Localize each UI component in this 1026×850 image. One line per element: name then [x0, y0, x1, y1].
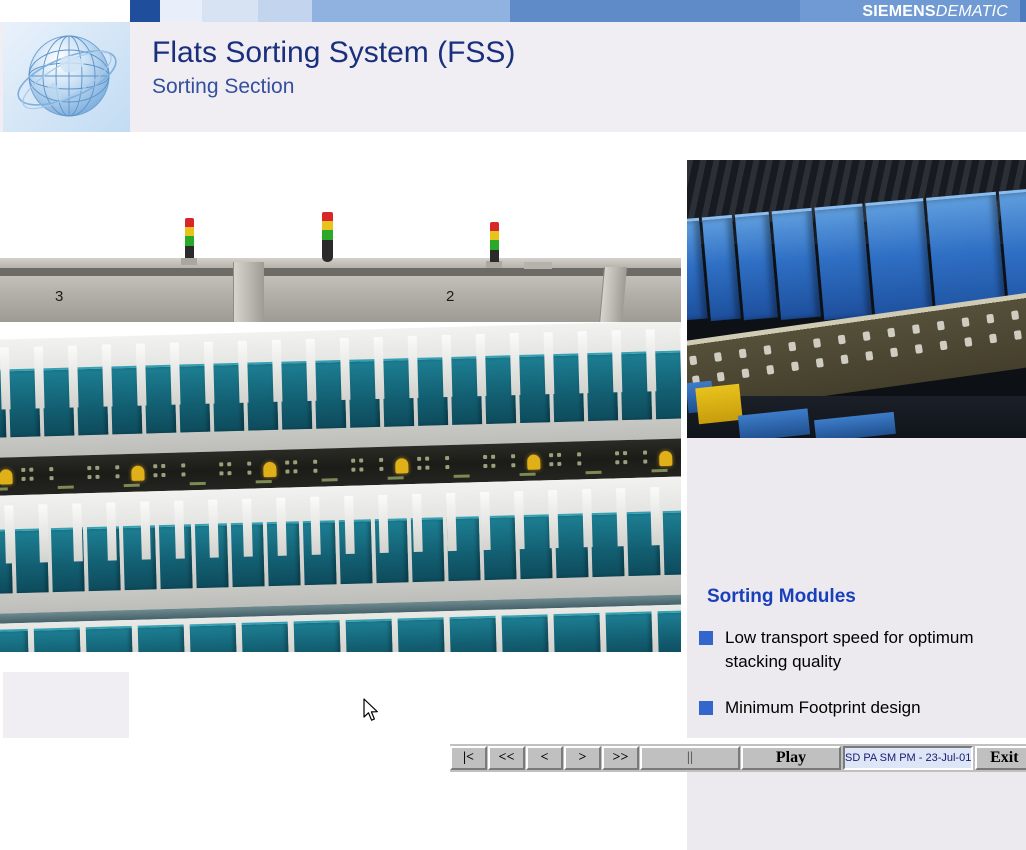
- control-dot: [87, 466, 91, 470]
- tower-yellow-lamp: [322, 221, 333, 230]
- band-segment-light-1: [202, 0, 258, 22]
- signal-tower-icon: [322, 212, 333, 262]
- tray-bin: [339, 519, 373, 584]
- control-dot: [227, 462, 231, 466]
- tower-red-lamp: [322, 212, 333, 221]
- globe-wireframe-svg: [9, 24, 129, 132]
- tower-green-lamp: [322, 230, 333, 240]
- tray-divider: [446, 493, 457, 551]
- page-title: Flats Sorting System (FSS): [152, 36, 515, 70]
- control-dot: [247, 471, 251, 475]
- control-panel-cell: [43, 455, 110, 495]
- rail-hole: [887, 328, 895, 338]
- tray-divider: [238, 341, 249, 403]
- tower-base: [322, 240, 333, 262]
- control-panel-cell: [373, 445, 440, 485]
- tray-divider: [68, 345, 79, 407]
- status-display: SD PA SM PM - 23-Jul-01: [843, 746, 973, 770]
- control-bar: [124, 484, 140, 487]
- rail-hole: [741, 368, 749, 378]
- tray-divider: [242, 499, 253, 557]
- playback-toolbar: |< << < > >> || Play SD PA SM PM - 23-Ju…: [0, 738, 1026, 770]
- bullet-item: Minimum Footprint design: [699, 696, 1019, 720]
- control-dot: [483, 464, 487, 468]
- rail-hole: [964, 337, 972, 347]
- rail-hole: [766, 365, 774, 375]
- rewind-button[interactable]: <<: [488, 746, 525, 770]
- rail-hole: [788, 342, 796, 352]
- tray-divider: [476, 334, 487, 396]
- toolbar-inner: |< << < > >> || Play SD PA SM PM - 23-Ju…: [448, 742, 1026, 772]
- sorting-trays-photo: [0, 322, 681, 652]
- control-dot: [577, 461, 581, 465]
- control-dot: [483, 455, 487, 459]
- first-slide-button[interactable]: |<: [450, 746, 487, 770]
- tray-bin: [86, 626, 133, 652]
- tray-divider: [136, 343, 147, 405]
- tray-divider: [480, 492, 491, 550]
- slide-body: 3 2: [0, 132, 1026, 738]
- rail-hole: [1014, 330, 1022, 340]
- bullet-text: Low transport speed for optimum stacking…: [725, 626, 1011, 674]
- control-dot: [115, 474, 119, 478]
- control-dot: [219, 471, 223, 475]
- tray-bin: [502, 614, 549, 652]
- control-panel-cell: [637, 438, 681, 478]
- control-dot: [95, 475, 99, 479]
- tray-divider: [72, 503, 83, 561]
- rail-hole: [838, 335, 846, 345]
- tray-bin: [657, 610, 681, 652]
- logo-dematic-text: DEMATIC: [936, 3, 1008, 20]
- tray-divider: [344, 496, 355, 554]
- tray-divider: [578, 331, 589, 393]
- rail-hole: [714, 352, 722, 362]
- tray-divider: [102, 344, 113, 406]
- indicator-lamp-icon: [263, 462, 276, 477]
- control-dot: [21, 468, 25, 472]
- control-dot: [161, 464, 165, 468]
- tray-bin: [0, 629, 29, 652]
- control-dot: [511, 454, 515, 458]
- tray-divider: [510, 333, 521, 395]
- rail-hole: [939, 340, 947, 350]
- tray-bin: [346, 619, 393, 652]
- control-dot: [643, 459, 647, 463]
- control-dot: [445, 456, 449, 460]
- control-bar: [454, 474, 470, 477]
- control-panel-cell: [109, 453, 176, 493]
- control-bar: [652, 469, 668, 472]
- indicator-lamp-icon: [395, 458, 408, 473]
- tray-row: [0, 322, 681, 458]
- indicator-lamp-icon: [527, 454, 540, 469]
- tray-divider: [548, 490, 559, 548]
- control-dot: [615, 451, 619, 455]
- rail-hole: [890, 347, 898, 357]
- tower-green-lamp: [490, 240, 499, 250]
- blue-bin: [735, 212, 778, 320]
- tray-divider: [646, 329, 657, 391]
- rail-hole: [1011, 310, 1019, 320]
- tray-divider: [204, 342, 215, 404]
- globe-icon: [3, 22, 130, 132]
- yellow-bin: [695, 384, 743, 424]
- blue-bin: [814, 203, 872, 320]
- control-dot: [425, 457, 429, 461]
- control-dot: [417, 457, 421, 461]
- tray-divider: [582, 489, 593, 547]
- pause-button[interactable]: ||: [640, 746, 740, 770]
- tray-divider: [34, 346, 45, 408]
- slide-header: Flats Sorting System (FSS) Sorting Secti…: [0, 22, 1026, 132]
- rail-bump: [524, 262, 552, 269]
- band-segment-mid-2: [510, 0, 800, 22]
- control-dot: [29, 477, 33, 481]
- rail-hole: [912, 324, 920, 334]
- control-dot: [115, 465, 119, 469]
- rail-hole: [791, 361, 799, 371]
- control-dot: [153, 464, 157, 468]
- control-bar: [520, 473, 536, 476]
- tray-bin: [398, 617, 445, 652]
- tray-divider: [374, 337, 385, 399]
- control-dot: [21, 477, 25, 481]
- control-panel-cell: [241, 449, 308, 489]
- control-bar: [586, 471, 602, 474]
- control-bar: [322, 478, 338, 481]
- control-dot: [219, 462, 223, 466]
- tray-bin: [123, 525, 157, 590]
- control-dot: [557, 462, 561, 466]
- control-dot: [445, 465, 449, 469]
- tower-foot: [181, 258, 197, 265]
- tray-bin: [294, 620, 341, 652]
- rail-main-face: [0, 276, 681, 324]
- control-bar: [190, 482, 206, 485]
- control-dot: [29, 468, 33, 472]
- control-dot: [293, 469, 297, 473]
- rail-hole: [763, 345, 771, 355]
- sorting-modules-panel: Sorting Modules Low transport speed for …: [687, 438, 1026, 850]
- tray-divider: [106, 502, 117, 560]
- control-panel-cell: [0, 456, 44, 496]
- tray-divider: [174, 500, 185, 558]
- bullet-square-icon: [699, 631, 713, 645]
- control-panel-cell: [571, 440, 638, 480]
- rail-hole: [986, 314, 994, 324]
- module-number-label: 3: [55, 288, 63, 305]
- tower-green-lamp: [185, 236, 194, 246]
- band-segment-white: [0, 0, 130, 22]
- control-dot: [511, 463, 515, 467]
- blue-bin: [702, 215, 741, 321]
- rail-hole: [865, 351, 873, 361]
- control-dot: [425, 466, 429, 470]
- control-dot: [417, 466, 421, 470]
- tray-bin: [242, 622, 289, 652]
- control-dot: [181, 472, 185, 476]
- control-dot: [351, 459, 355, 463]
- bullet-text: Minimum Footprint design: [725, 696, 921, 720]
- logo-siemens-text: SIEMENS: [862, 3, 935, 20]
- control-panel-cell: [439, 443, 506, 483]
- control-dot: [359, 467, 363, 471]
- control-dot: [643, 450, 647, 454]
- tower-red-lamp: [490, 222, 499, 231]
- control-dot: [293, 460, 297, 464]
- rail-hole: [816, 358, 824, 368]
- tray-divider: [340, 338, 351, 400]
- band-segment-navy: [130, 0, 160, 22]
- blue-bins-photo: [687, 160, 1026, 438]
- trays-perspective-group: [0, 322, 681, 652]
- control-dot: [181, 463, 185, 467]
- control-bar: [0, 487, 8, 490]
- brand-color-band: SIEMENSDEMATIC: [0, 0, 1026, 22]
- control-dot: [227, 471, 231, 475]
- rail-hole: [961, 317, 969, 327]
- panel-heading: Sorting Modules: [707, 586, 856, 608]
- rail-upper-strip: [0, 258, 681, 268]
- blue-bin: [865, 198, 933, 321]
- tower-foot: [486, 261, 502, 268]
- bullet-square-icon: [699, 701, 713, 715]
- exit-button[interactable]: Exit: [975, 746, 1026, 770]
- band-segment-mid-1: [312, 0, 510, 22]
- tray-bin: [34, 627, 81, 652]
- tray-bin: [450, 616, 497, 652]
- tray-bin: [190, 623, 237, 652]
- tray-divider: [408, 336, 419, 398]
- signal-tower-icon: [185, 218, 194, 258]
- tray-divider: [4, 505, 15, 563]
- control-dot: [359, 458, 363, 462]
- signal-tower-icon: [490, 222, 499, 262]
- page-subtitle: Sorting Section: [152, 74, 515, 100]
- control-dot: [87, 475, 91, 479]
- tray-divider: [0, 347, 11, 409]
- tray-divider: [208, 500, 219, 558]
- tray-divider: [38, 504, 49, 562]
- control-dot: [285, 469, 289, 473]
- control-dot: [161, 473, 165, 477]
- previous-slide-button[interactable]: <: [526, 746, 563, 770]
- next-slide-button[interactable]: >: [564, 746, 601, 770]
- tray-divider: [544, 332, 555, 394]
- control-dot: [623, 460, 627, 464]
- band-segment-light-2: [258, 0, 312, 22]
- control-dot: [49, 476, 53, 480]
- rail-hole: [717, 372, 725, 382]
- control-dot: [153, 473, 157, 477]
- control-dot: [49, 467, 53, 471]
- blue-bin: [772, 208, 821, 320]
- control-dot: [577, 452, 581, 456]
- rail-hole: [813, 338, 821, 348]
- tray-divider: [306, 339, 317, 401]
- rail-hole: [840, 354, 848, 364]
- module-number-label: 2: [446, 288, 454, 305]
- title-area: Flats Sorting System (FSS) Sorting Secti…: [152, 36, 515, 100]
- rail-hole: [739, 349, 747, 359]
- control-dot: [491, 455, 495, 459]
- siemens-dematic-logo: SIEMENSDEMATIC: [862, 2, 1008, 21]
- band-segment-pale: [160, 0, 202, 22]
- tray-divider: [612, 330, 623, 392]
- control-dot: [313, 460, 317, 464]
- control-dot: [247, 462, 251, 466]
- tray-divider: [276, 498, 287, 556]
- fast-forward-button[interactable]: >>: [602, 746, 639, 770]
- rail-hole: [862, 331, 870, 341]
- control-dot: [623, 451, 627, 455]
- tray-divider: [140, 501, 151, 559]
- control-bar: [58, 486, 74, 489]
- rail-top-edge: [0, 268, 681, 276]
- sorting-rail-photo: 3 2: [0, 150, 681, 336]
- tray-divider: [616, 488, 627, 546]
- bullet-item: Low transport speed for optimum stacking…: [699, 626, 1019, 674]
- tower-base: [185, 246, 194, 258]
- rail-hole: [937, 321, 945, 331]
- rail-hole: [989, 334, 997, 344]
- control-panel-cell: [307, 447, 374, 487]
- indicator-lamp-icon: [659, 451, 672, 466]
- tray-bin: [663, 510, 681, 575]
- tray-bin: [654, 350, 681, 419]
- control-panel-cell: [175, 451, 242, 491]
- tower-base: [490, 250, 499, 262]
- tray-divider: [272, 340, 283, 402]
- tray-divider: [378, 495, 389, 553]
- tower-yellow-lamp: [490, 231, 499, 240]
- tray-divider: [442, 335, 453, 397]
- control-panel-cell: [505, 442, 572, 482]
- control-bar: [388, 476, 404, 479]
- tray-bin: [554, 613, 601, 652]
- control-dot: [549, 462, 553, 466]
- control-dot: [351, 468, 355, 472]
- tray-row: [0, 476, 681, 614]
- control-dot: [379, 467, 383, 471]
- tray-divider: [514, 491, 525, 549]
- tray-divider: [310, 497, 321, 555]
- control-dot: [285, 460, 289, 464]
- control-dot: [549, 453, 553, 457]
- play-button[interactable]: Play: [741, 746, 841, 770]
- band-segment-edge: [1020, 0, 1026, 22]
- tray-divider: [412, 494, 423, 552]
- rail-hole: [915, 344, 923, 354]
- rail-hole: [689, 355, 697, 365]
- control-dot: [615, 460, 619, 464]
- tray-divider: [170, 343, 181, 405]
- indicator-lamp-icon: [0, 469, 13, 484]
- control-dot: [95, 466, 99, 470]
- tray-divider: [650, 487, 661, 545]
- tray-bin: [138, 625, 185, 652]
- tower-red-lamp: [185, 218, 194, 227]
- tray-bin: [606, 611, 653, 652]
- indicator-lamp-icon: [131, 466, 144, 481]
- tower-yellow-lamp: [185, 227, 194, 236]
- control-bar: [256, 480, 272, 483]
- control-dot: [379, 458, 383, 462]
- control-dot: [557, 453, 561, 457]
- control-dot: [313, 469, 317, 473]
- control-dot: [491, 464, 495, 468]
